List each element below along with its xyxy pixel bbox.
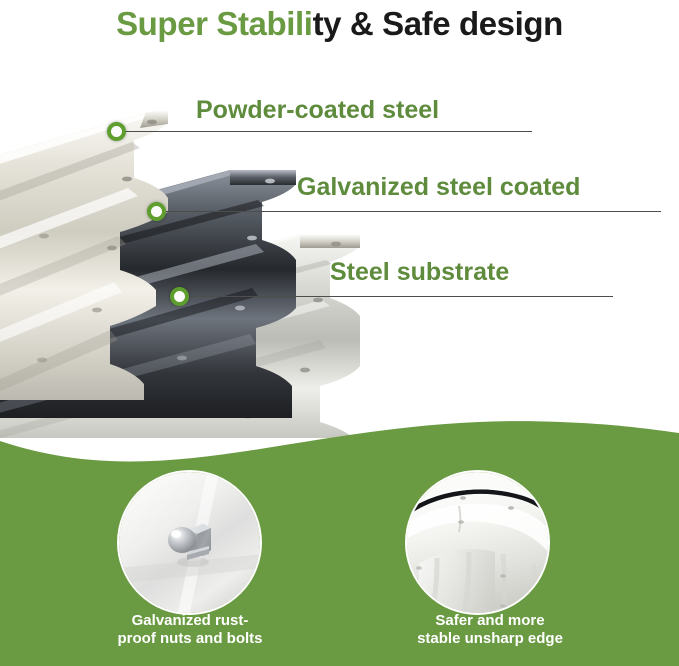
- feature-safe-edge: [405, 470, 550, 615]
- marker-galvanized-steel: [147, 202, 166, 221]
- title-dark-part: ty & Safe design: [313, 5, 563, 43]
- page-title: Super Stability & Safe design: [0, 0, 679, 48]
- leader-line-substrate: [181, 296, 613, 297]
- callout-steel-substrate: Steel substrate: [330, 258, 509, 287]
- rolled-safety-edge-photo: [405, 470, 550, 615]
- marker-steel-substrate: [170, 287, 189, 306]
- leader-line-powder-coated: [118, 131, 532, 132]
- title-green-part: Super Stabili: [116, 5, 313, 43]
- caption-galvanized-bolts: Galvanized rust- proof nuts and bolts: [55, 612, 325, 647]
- marker-powder-coated-steel: [107, 122, 126, 141]
- feature-galvanized-bolts: [117, 470, 262, 615]
- callout-powder-coated-steel: Powder-coated steel: [196, 96, 439, 125]
- caption-safe-edge: Safer and more stable unsharp edge: [355, 612, 625, 647]
- callout-galvanized-steel-coated: Galvanized steel coated: [297, 173, 580, 202]
- infographic-root: Super Stability & Safe design: [0, 0, 679, 666]
- galvanized-bolt-photo: [117, 470, 262, 615]
- leader-line-galvanized: [158, 211, 661, 212]
